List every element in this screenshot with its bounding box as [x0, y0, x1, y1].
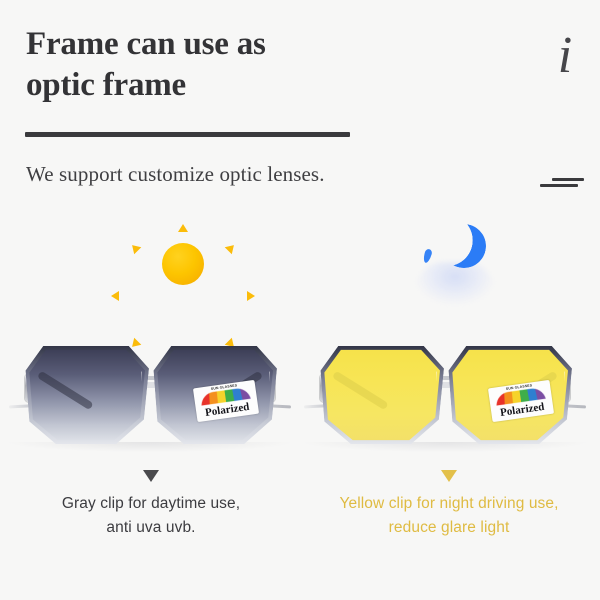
condition-icon-row — [0, 214, 600, 314]
sun-ray — [247, 291, 255, 301]
surface-shadow — [9, 442, 291, 452]
surface-shadow — [304, 442, 586, 452]
product-infographic: Frame can use as optic frame We support … — [0, 0, 600, 600]
lens-left — [318, 344, 444, 446]
caret-down-icon — [143, 470, 159, 482]
caption-yellow-line1: Yellow clip for night driving use, — [304, 492, 594, 516]
page-subtitle: We support customize optic lenses. — [26, 162, 325, 187]
cloud-shape — [416, 262, 494, 304]
caption-row: Gray clip for daytime use, anti uva uvb.… — [0, 470, 600, 570]
yellow-clip-sunglasses-image: SUN GLASSES Polarized — [300, 318, 590, 468]
gray-clip-sunglasses-image: SUN GLASSES Polarized — [5, 318, 295, 468]
caption-yellow-clip: Yellow clip for night driving use, reduc… — [304, 470, 594, 540]
caption-gray-text: Gray clip for daytime use, anti uva uvb. — [6, 492, 296, 540]
page-title-line1: Frame can use as — [26, 26, 266, 62]
caret-down-icon — [441, 470, 457, 482]
title-divider — [25, 132, 350, 137]
page-title-line2: optic frame — [26, 65, 446, 106]
sun-ray — [178, 224, 188, 232]
moon-spark — [422, 248, 433, 263]
sun-ray — [111, 291, 119, 301]
caption-gray-line1: Gray clip for daytime use, — [6, 492, 296, 516]
product-image-row: SUN GLASSES Polarized — [0, 318, 600, 468]
sun-ray — [225, 242, 238, 255]
sun-disc — [162, 243, 204, 285]
caption-gray-clip: Gray clip for daytime use, anti uva uvb. — [6, 470, 296, 540]
equals-mark-icon — [540, 175, 584, 191]
info-i-icon: i — [548, 28, 582, 84]
caption-yellow-text: Yellow clip for night driving use, reduc… — [304, 492, 594, 540]
caption-yellow-line2: reduce glare light — [304, 516, 594, 540]
sun-ray — [129, 242, 142, 255]
lens-left — [23, 344, 149, 446]
caption-gray-line2: anti uva uvb. — [6, 516, 296, 540]
page-title: Frame can use as optic frame — [26, 24, 446, 107]
crescent-moon-icon — [412, 220, 498, 308]
sun-icon — [141, 222, 225, 306]
